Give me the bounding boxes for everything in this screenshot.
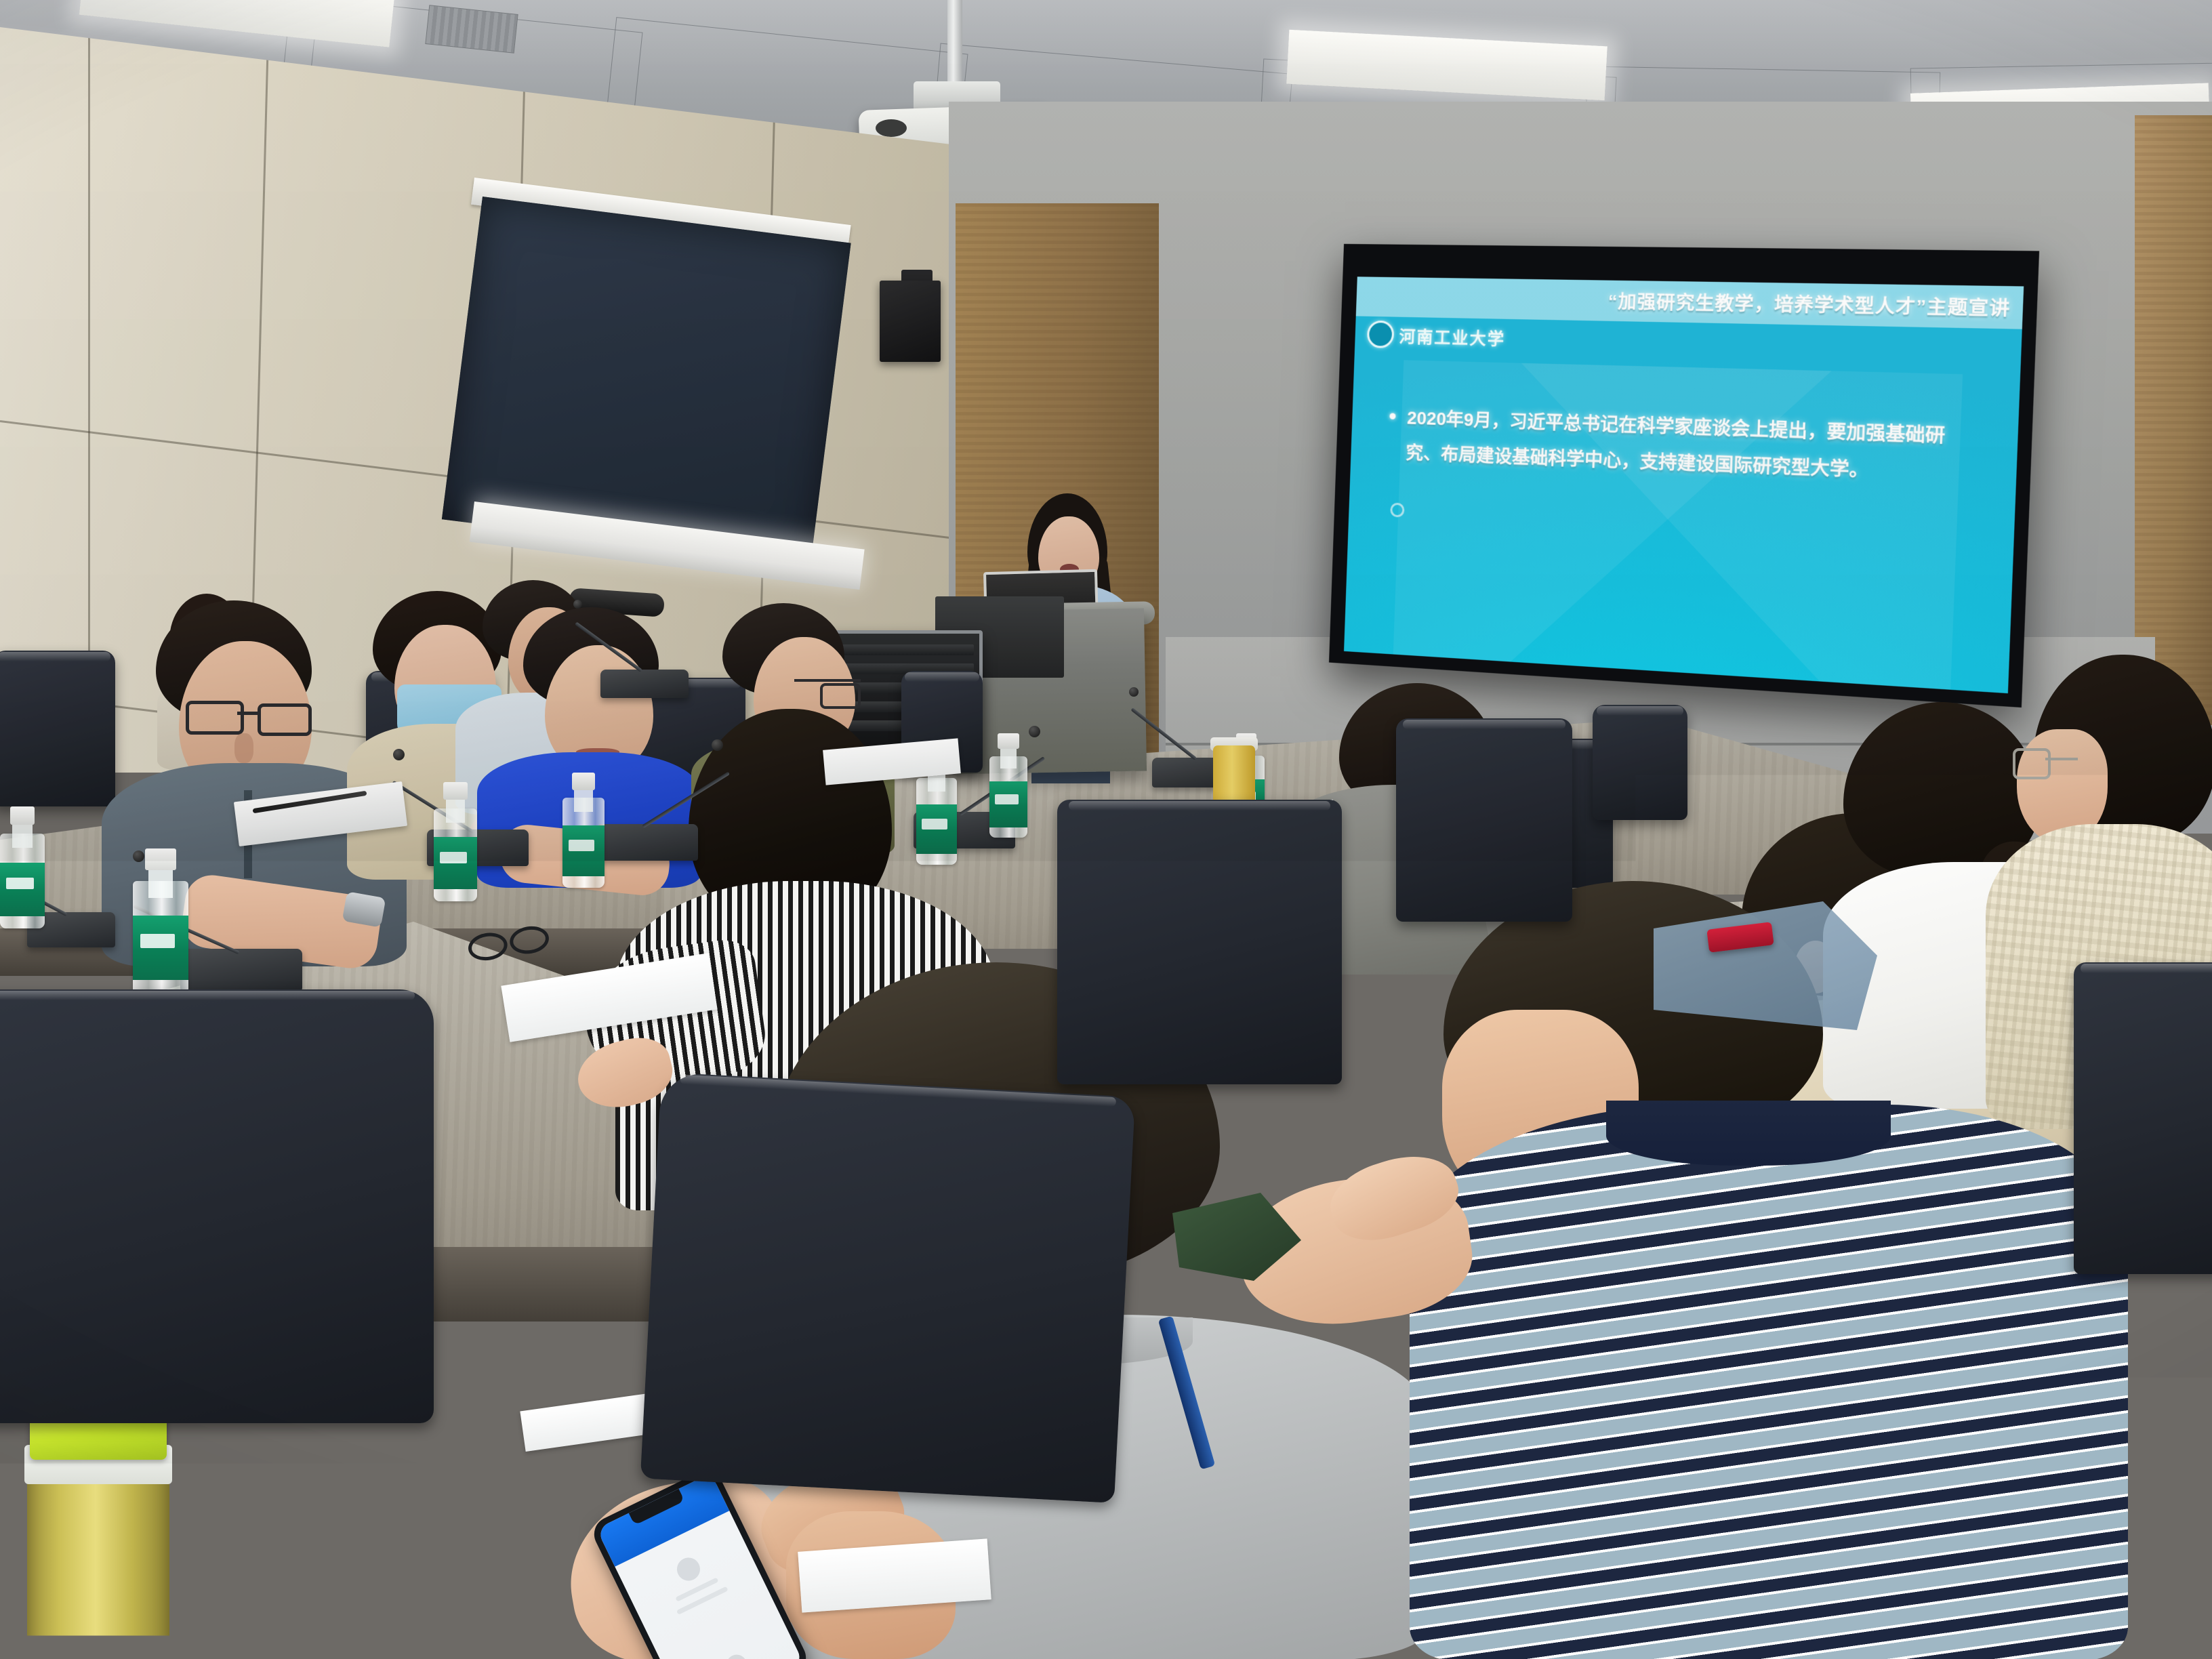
polo-collar [1606,1101,1891,1166]
conference-chair[interactable] [2074,962,2212,1274]
desk-microphone[interactable] [180,930,302,991]
conference-chair[interactable] [640,1072,1135,1503]
conference-chair[interactable] [1593,705,1687,820]
slide-bullet-2-empty [1390,503,1405,518]
bottled-water[interactable] [434,782,477,901]
eyeglasses-icon [186,701,312,729]
eyeglasses-icon [794,679,861,705]
conference-room-photo: “加强研究生教学，培养学术型人才”主题宣讲 河南工业大学 2020年9月，习近平… [0,0,2212,1659]
clothing-striped-polo [1410,1105,2128,1659]
slide-university-logo: 河南工业大学 [1367,321,1506,351]
wall-speaker [880,281,941,362]
conference-chair[interactable] [1396,718,1572,922]
projector-mount-pole [947,0,962,88]
bottled-water[interactable] [562,773,605,888]
glass-tea-bottle[interactable] [27,1410,169,1659]
wood-wall-panel-right [2135,115,2212,725]
app-button-icon[interactable] [723,1652,750,1659]
university-name-label: 河南工业大学 [1399,323,1506,349]
bottled-water[interactable] [133,848,188,995]
desk-microphone[interactable] [600,657,689,698]
university-emblem-icon [1367,321,1395,348]
bottled-water[interactable] [0,806,45,928]
slide-body: 2020年9月，习近平总书记在科学家座谈会上提出，要加强基础研究、布局建设基础科… [1385,400,1984,493]
nose-icon [234,733,253,763]
eyeglasses-icon [2013,748,2078,775]
app-avatar-icon [673,1554,703,1584]
projection-screen: “加强研究生教学，培养学术型人才”主题宣讲 河南工业大学 2020年9月，习近平… [1329,244,2039,708]
conference-chair[interactable] [1057,800,1342,1084]
conference-chair[interactable] [0,989,434,1423]
projector-lens-icon [876,119,907,137]
desk-microphone[interactable] [596,806,698,861]
bottled-water[interactable] [989,733,1027,838]
slide-bullet-1: 2020年9月，习近平总书记在科学家座谈会上提出，要加强基础研究、布局建设基础科… [1385,400,1984,493]
conference-chair[interactable] [0,651,115,806]
presentation-slide: “加强研究生教学，培养学术型人才”主题宣讲 河南工业大学 2020年9月，习近平… [1344,276,2024,693]
